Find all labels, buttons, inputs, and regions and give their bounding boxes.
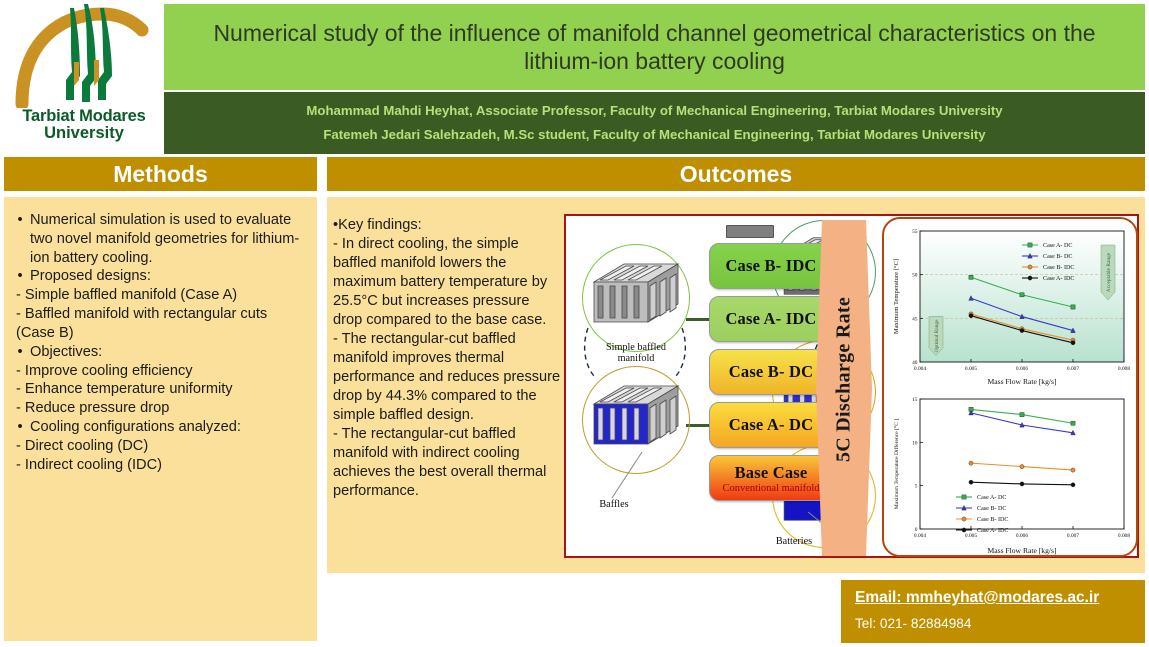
case-box-a-idc[interactable]: Case A- IDC [709,296,833,342]
svg-text:0.005: 0.005 [965,533,977,539]
bullet-item: •Key findings: [333,216,561,235]
x-axis-label: Mass Flow Rate [kg/s] [988,377,1057,386]
bullet-text: Proposed designs: [30,267,309,286]
contact-box: Email: mmheyhat@modares.ac.ir Tel: 021- … [841,580,1145,643]
logo-line-2: University [22,125,145,142]
svg-text:45: 45 [912,316,918,322]
bullet-text: - Direct cooling (DC) [16,437,309,456]
bullet-text: - The rectangular-cut baffled manifold i… [333,331,560,423]
bullet-text: - Simple baffled manifold (Case A) [16,286,309,305]
bullet-text: - Enhance temperature uniformity [16,380,309,399]
outcomes-header-label: Outcomes [680,161,792,188]
svg-text:55: 55 [912,229,918,235]
svg-text:0.006: 0.006 [1016,366,1028,372]
bullet-marker: • [10,267,30,286]
bullet-item: •Cooling configurations analyzed: [10,418,309,437]
chart-top-svg: 0.0040.0050.0060.0070.00840455055Mass Fl… [890,223,1134,386]
contact-tel: Tel: 021- 82884984 [855,616,1131,631]
module-simple-baffled-idc-icon [590,256,682,330]
bullet-item: - Simple baffled manifold (Case A) [10,286,309,305]
svg-text:15: 15 [912,397,918,403]
bullet-text: - Indirect cooling (IDC) [16,456,309,475]
methods-panel: •Numerical simulation is used to evaluat… [4,197,317,641]
svg-text:5: 5 [915,484,918,490]
band-annotation: Acceptable Range [1106,252,1112,292]
bullet-text: Objectives: [30,343,309,362]
outcomes-section-header: Outcomes [327,157,1145,191]
bullet-item: •Numerical simulation is used to evaluat… [10,211,309,267]
bullet-item: - Baffled manifold with rectangular cuts… [10,305,309,343]
bullet-text: - Reduce pressure drop [16,399,309,418]
logo-mark-icon [14,2,154,108]
bullet-text: - The rectangular-cut baffled manifold w… [333,426,546,499]
bullet-item: - Reduce pressure drop [10,399,309,418]
case-label: Case B- DC [729,362,814,382]
methods-bullet-list: •Numerical simulation is used to evaluat… [4,197,317,474]
legend-label: Case B- IDC [1043,265,1074,271]
bullet-text: Numerical simulation is used to evaluate… [30,211,309,267]
bullet-item: - Indirect cooling (IDC) [10,456,309,475]
legend-label: Case A- DC [977,495,1006,501]
legend-label: Case B- DC [1043,254,1072,260]
author-2: Fatemeh Jedari Salehzadeh, M.Sc student,… [323,128,985,143]
connector-a-idc [686,318,709,321]
case-box-b-dc[interactable]: Case B- DC [709,349,833,395]
svg-text:0.008: 0.008 [1118,533,1130,539]
svg-text:0.008: 0.008 [1118,366,1130,372]
methods-header-label: Methods [113,161,208,188]
bullet-text: Key findings: [338,217,422,233]
chart-bot-svg: 0.0040.0050.0060.0070.008051015Mass Flow… [890,391,1134,555]
discharge-rate-label: 5C Discharge Rate [833,260,856,500]
module-simple-baffled-dc-icon [590,378,682,452]
bullet-text: - In direct cooling, the simple baffled … [333,236,547,328]
case-sublabel: Conventional manifold [722,483,819,494]
logo-text: Tarbiat Modares University [22,108,145,141]
legend-label: Case B- DC [977,506,1006,512]
leader-baffles-icon [606,446,656,502]
legend-label: Case A- IDC [977,528,1008,534]
methods-section-header: Methods [4,157,317,191]
case-label: Case B- IDC [725,256,816,276]
case-label: Base Case [735,463,808,483]
y-axis-label: Maximum Temperature Difference [°C ] [893,419,900,510]
svg-text:0: 0 [915,527,918,533]
y-axis-label: Maximum Temperature [°C] [893,259,900,334]
svg-text:0.007: 0.007 [1067,533,1079,539]
bullet-item: - Enhance temperature uniformity [10,380,309,399]
chart-maximum-temperature-difference: 0.0040.0050.0060.0070.008051015Mass Flow… [890,391,1134,555]
svg-text:0.006: 0.006 [1016,533,1028,539]
legend-label: Case A- DC [1043,243,1072,249]
discharge-rate-banner: 5C Discharge Rate [816,220,872,556]
author-1: Mohammad Mahdi Heyhat, Associate Profess… [306,104,1002,119]
inlet-block-icon [726,225,774,238]
bullet-item: - The rectangular-cut baffled manifold i… [333,330,561,425]
svg-text:40: 40 [912,360,918,366]
results-charts-container: 0.0040.0050.0060.0070.00840455055Mass Fl… [882,217,1138,557]
bullet-item: - The rectangular-cut baffled manifold w… [333,425,561,501]
x-axis-label: Mass Flow Rate [kg/s] [988,546,1057,555]
university-logo: Tarbiat Modares University [6,2,162,154]
bullet-text: Cooling configurations analyzed: [30,418,309,437]
poster-title-bar: Numerical study of the influence of mani… [164,4,1145,90]
case-label: Case A- IDC [725,309,816,329]
bullet-item: - Improve cooling efficiency [10,362,309,381]
bullet-marker: • [10,418,30,437]
svg-text:0.007: 0.007 [1067,366,1079,372]
chart-maximum-temperature: 0.0040.0050.0060.0070.00840455055Mass Fl… [890,223,1134,386]
bullet-marker: • [10,343,30,362]
svg-text:0.004: 0.004 [914,366,926,372]
bullet-text: - Baffled manifold with rectangular cuts… [16,305,309,343]
callout-simple-baffled: Simple baffled manifold [588,342,684,365]
case-label: Case A- DC [729,415,814,435]
contact-email[interactable]: Email: mmheyhat@modares.ac.ir [855,589,1131,607]
bullet-item: - In direct cooling, the simple baffled … [333,235,561,330]
poster-title: Numerical study of the influence of mani… [178,19,1131,75]
schematic-figure: Simple baffled manifold Rectangular-cut … [564,214,1139,558]
outcomes-bullet-list: •Key findings:- In direct cooling, the s… [333,203,561,501]
case-box-a-dc[interactable]: Case A- DC [709,402,833,448]
bullet-item: •Objectives: [10,343,309,362]
logo-line-1: Tarbiat Modares [22,108,145,125]
legend-label: Case A- IDC [1043,276,1074,282]
svg-text:50: 50 [912,273,918,279]
case-box-b-idc[interactable]: Case B- IDC [709,243,833,289]
bullet-text: - Improve cooling efficiency [16,362,309,381]
svg-text:0.004: 0.004 [914,533,926,539]
poster-root: Tarbiat Modares University Numerical stu… [0,0,1149,647]
band-annotation: Optimal Range [934,319,940,352]
case-box-base[interactable]: Base Case Conventional manifold [709,455,833,501]
svg-text:0.005: 0.005 [965,366,977,372]
svg-text:10: 10 [912,440,918,446]
bullet-marker: • [10,211,30,267]
bullet-item: •Proposed designs: [10,267,309,286]
authors-bar: Mohammad Mahdi Heyhat, Associate Profess… [164,92,1145,154]
legend-label: Case B- IDC [977,517,1008,523]
tarbiat-modares-logo-icon [14,2,154,108]
bullet-item: - Direct cooling (DC) [10,437,309,456]
